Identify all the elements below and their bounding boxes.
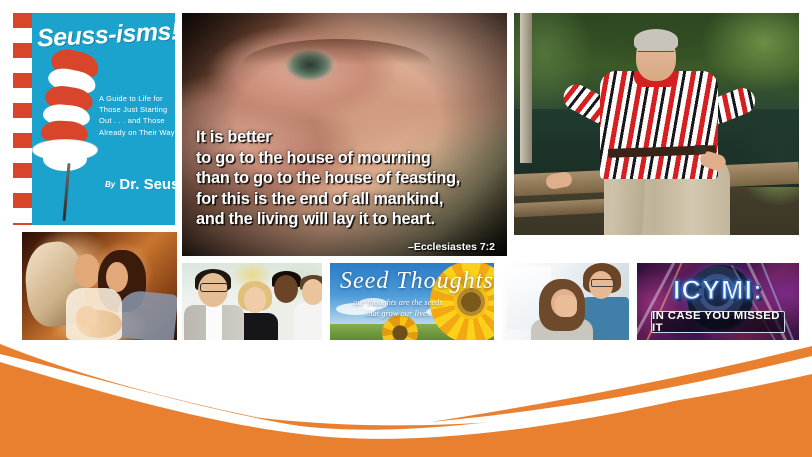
swoosh-main-shape	[0, 348, 812, 457]
baby-jesus-head	[76, 306, 98, 328]
quote-text: It is better to go to the house of mourn…	[196, 127, 497, 230]
quote-line-4: for this is the end of all mankind,	[196, 189, 497, 210]
seuss-subtitle: A Guide to Life for Those Just Starting …	[99, 93, 175, 138]
image-comforting-grief[interactable]	[503, 263, 629, 340]
grey-hair	[634, 29, 678, 51]
comforter-glasses-icon	[591, 279, 615, 287]
khaki-pants-leg	[608, 172, 645, 235]
seed-thoughts-tagline: our thoughts are the seeds that grow our…	[338, 297, 458, 319]
image-diverse-professionals[interactable]	[182, 263, 322, 340]
quote-line-2: to go to the house of mourning	[196, 148, 497, 169]
quote-line-5: and the living will lay it to heart.	[196, 209, 497, 230]
bottom-orange-swoosh	[0, 330, 812, 457]
seuss-byline-author: Dr. Seuss	[119, 176, 175, 193]
quote-line-3: than to go to the house of feasting,	[196, 168, 497, 189]
eyeglasses-icon	[638, 51, 674, 59]
slide-canvas: Seuss-isms! A Guide to Life for Those Ju…	[0, 0, 812, 457]
image-seuss-isms-book-cover[interactable]: Seuss-isms! A Guide to Life for Those Ju…	[13, 13, 175, 225]
tagline-line-1: our thoughts are the seeds	[353, 297, 442, 307]
seuss-stripe-border	[13, 13, 32, 225]
hands-covering-face	[555, 295, 577, 317]
quote-attribution: –Ecclesiastes 7:2	[408, 241, 495, 253]
tree-trunk	[520, 13, 532, 163]
wristwatch	[694, 145, 706, 154]
tagline-line-2: that grow our lives	[366, 308, 430, 318]
seed-thoughts-title: Seed Thoughts	[340, 268, 494, 295]
image-man-on-railing[interactable]	[514, 13, 799, 235]
image-seed-thoughts-banner[interactable]: Seed Thoughts our thoughts are the seeds…	[330, 263, 494, 340]
seuss-byline: By Dr. Seuss	[105, 176, 175, 193]
quote-line-1: It is better	[196, 127, 497, 148]
cat-in-the-hat-illustration	[41, 51, 101, 171]
image-icymi-banner[interactable]: ICYMI: IN CASE YOU MISSED IT	[637, 263, 799, 340]
joseph-face	[74, 254, 100, 288]
image-ecclesiastes-quote[interactable]: It is better to go to the house of mourn…	[182, 13, 507, 256]
seuss-byline-prefix: By	[105, 180, 115, 189]
icymi-title: ICYMI:	[637, 275, 799, 306]
image-nativity-holy-family[interactable]	[22, 232, 177, 340]
